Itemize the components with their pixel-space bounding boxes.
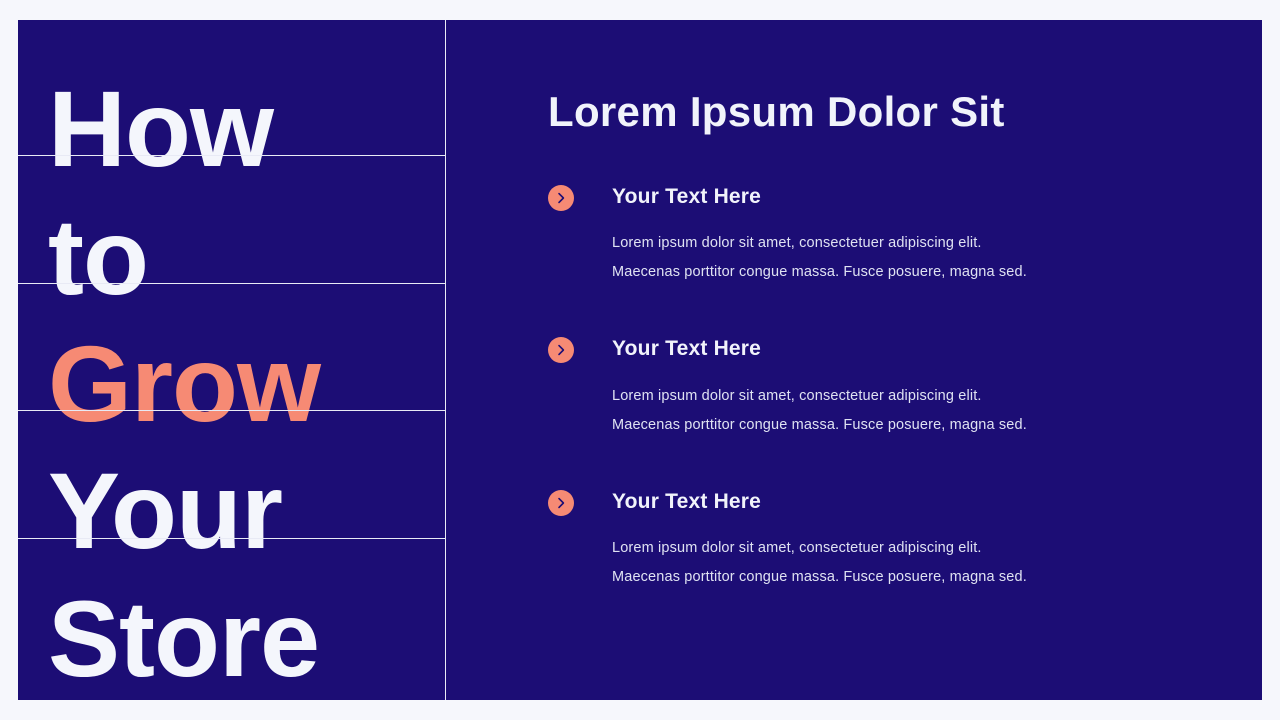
horizontal-divider-2 (18, 283, 445, 284)
title-stack: How to Grow Your Store (18, 20, 445, 700)
panel-heading: Lorem Ipsum Dolor Sit (548, 88, 1005, 136)
chevron-right-icon (548, 337, 574, 363)
list-item-body: Lorem ipsum dolor sit amet, consectetuer… (612, 382, 1052, 440)
list-item: Your Text Here Lorem ipsum dolor sit ame… (548, 183, 1088, 287)
list-item-title: Your Text Here (612, 183, 1088, 210)
list-item: Your Text Here Lorem ipsum dolor sit ame… (548, 488, 1088, 592)
list-item-title: Your Text Here (612, 335, 1088, 362)
list-item-body: Lorem ipsum dolor sit amet, consectetuer… (612, 534, 1052, 592)
list-item: Your Text Here Lorem ipsum dolor sit ame… (548, 335, 1088, 439)
horizontal-divider-1 (18, 155, 445, 156)
slide-canvas: How to Grow Your Store Lorem Ipsum Dolor… (18, 20, 1262, 700)
left-title-panel: How to Grow Your Store (18, 20, 445, 700)
chevron-right-icon (548, 185, 574, 211)
bullet-list: Your Text Here Lorem ipsum dolor sit ame… (548, 183, 1088, 592)
title-line-5: Store (48, 585, 445, 693)
list-item-title: Your Text Here (612, 488, 1088, 515)
chevron-right-icon (548, 490, 574, 516)
title-line-4: Your (48, 457, 445, 565)
horizontal-divider-3 (18, 410, 445, 411)
right-content-panel: Lorem Ipsum Dolor Sit Your Text Here Lor… (445, 20, 1262, 700)
title-line-3-accent: Grow (48, 330, 445, 438)
list-item-body: Lorem ipsum dolor sit amet, consectetuer… (612, 229, 1052, 287)
title-line-1: How (48, 75, 445, 183)
horizontal-divider-4 (18, 538, 445, 539)
title-line-2: to (48, 203, 445, 311)
